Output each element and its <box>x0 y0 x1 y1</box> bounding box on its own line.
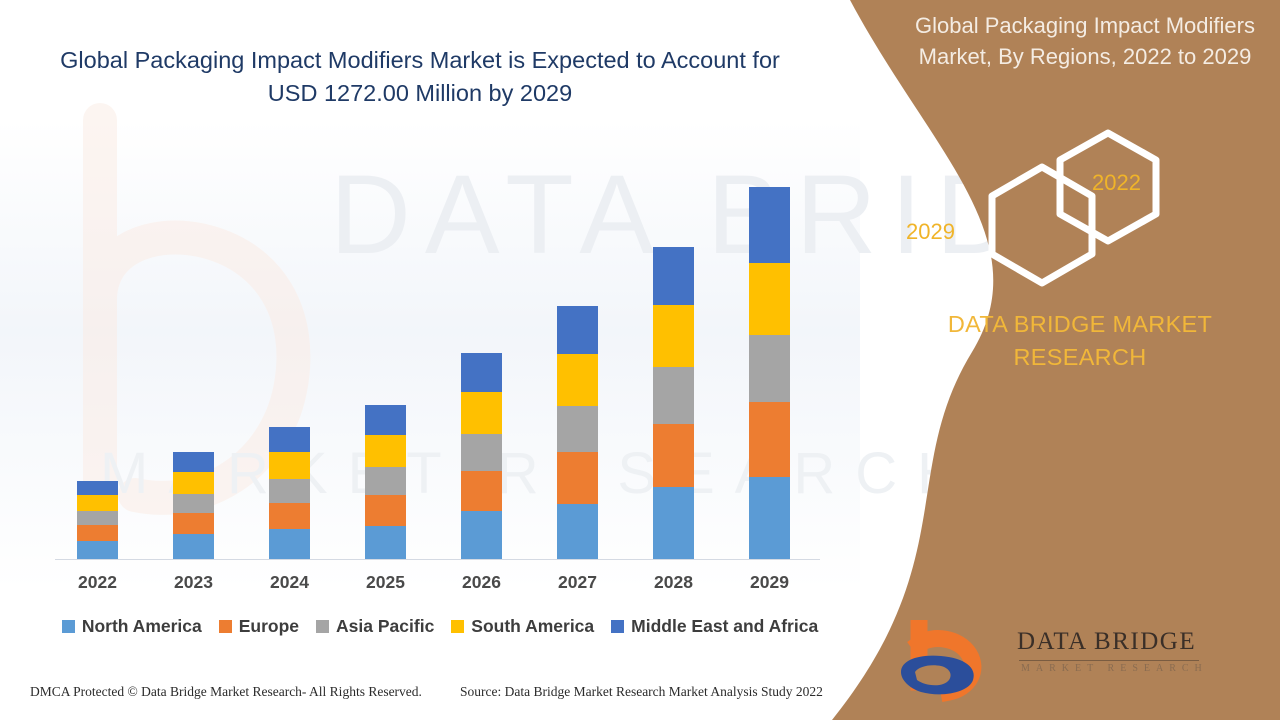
legend-item-middle-east-and-africa[interactable]: Middle East and Africa <box>611 616 818 637</box>
bar-segment-asia-pacific <box>749 335 790 402</box>
bar-segment-asia-pacific <box>77 511 118 525</box>
bar-segment-asia-pacific <box>173 494 214 513</box>
x-axis-label-2027: 2027 <box>533 572 623 593</box>
bar-2026 <box>461 353 502 559</box>
x-axis-labels: 20222023202420252026202720282029 <box>55 572 820 602</box>
x-axis-label-2029: 2029 <box>725 572 815 593</box>
x-axis-label-2025: 2025 <box>341 572 431 593</box>
legend-item-asia-pacific[interactable]: Asia Pacific <box>316 616 434 637</box>
legend-label: Europe <box>239 616 299 637</box>
chart-plot-area <box>55 150 820 560</box>
legend-item-north-america[interactable]: North America <box>62 616 202 637</box>
bar-segment-north-america <box>653 487 694 559</box>
chart-legend: North AmericaEuropeAsia PacificSouth Ame… <box>55 616 825 637</box>
bar-segment-south-america <box>557 354 598 406</box>
brand-panel: Global Packaging Impact Modifiers Market… <box>880 0 1280 720</box>
data-bridge-logo: DATA BRIDGE MARKET RESEARCH <box>885 620 1135 705</box>
bar-segment-south-america <box>749 263 790 335</box>
bar-segment-europe <box>653 424 694 487</box>
legend-label: Middle East and Africa <box>631 616 818 637</box>
bar-segment-middle-east-and-africa <box>269 427 310 452</box>
legend-swatch-icon <box>62 620 75 633</box>
bar-segment-middle-east-and-africa <box>173 452 214 472</box>
bar-segment-north-america <box>557 504 598 559</box>
brand-line-1: DATA BRIDGE MARKET <box>880 308 1280 341</box>
bar-segment-asia-pacific <box>365 467 406 495</box>
bar-segment-north-america <box>173 534 214 559</box>
footer: DMCA Protected © Data Bridge Market Rese… <box>0 684 845 708</box>
x-axis-label-2023: 2023 <box>149 572 239 593</box>
bar-segment-europe <box>461 471 502 511</box>
brand-name: DATA BRIDGE MARKET RESEARCH <box>880 308 1280 375</box>
bar-segment-south-america <box>365 435 406 467</box>
x-axis-label-2028: 2028 <box>629 572 719 593</box>
hex-label-2029: 2029 <box>906 219 955 245</box>
bar-2024 <box>269 427 310 559</box>
legend-item-south-america[interactable]: South America <box>451 616 594 637</box>
legend-swatch-icon <box>611 620 624 633</box>
bar-segment-middle-east-and-africa <box>365 405 406 435</box>
hexagon-outline-icon <box>980 125 1190 290</box>
bar-segment-north-america <box>749 477 790 559</box>
logo-name: DATA BRIDGE <box>1017 628 1196 656</box>
bar-segment-middle-east-and-africa <box>77 481 118 495</box>
page-title: Global Packaging Impact Modifiers Market… <box>60 44 780 111</box>
bar-segment-asia-pacific <box>653 367 694 424</box>
bar-segment-asia-pacific <box>269 479 310 503</box>
legend-label: North America <box>82 616 202 637</box>
hexagon-badges <box>980 125 1190 290</box>
bar-2023 <box>173 452 214 559</box>
x-axis-line <box>55 559 820 560</box>
bar-segment-asia-pacific <box>557 406 598 452</box>
bar-segment-middle-east-and-africa <box>653 247 694 305</box>
bar-segment-north-america <box>77 541 118 559</box>
bar-segment-europe <box>269 503 310 529</box>
brand-line-2: RESEARCH <box>880 341 1280 374</box>
bar-2022 <box>77 481 118 559</box>
legend-label: South America <box>471 616 594 637</box>
db-mark-icon <box>885 620 1015 705</box>
bar-2027 <box>557 306 598 559</box>
logo-tagline: MARKET RESEARCH <box>1021 663 1208 674</box>
bar-segment-middle-east-and-africa <box>461 353 502 392</box>
bar-segment-europe <box>557 452 598 504</box>
bar-segment-north-america <box>269 529 310 559</box>
panel-title: Global Packaging Impact Modifiers Market… <box>890 10 1280 72</box>
bar-segment-south-america <box>173 472 214 494</box>
hex-label-2022: 2022 <box>1092 170 1141 196</box>
bar-segment-europe <box>173 513 214 534</box>
legend-swatch-icon <box>219 620 232 633</box>
logo-divider <box>1019 660 1199 661</box>
legend-label: Asia Pacific <box>336 616 434 637</box>
legend-swatch-icon <box>316 620 329 633</box>
bar-segment-middle-east-and-africa <box>749 187 790 263</box>
bar-segment-north-america <box>365 526 406 559</box>
bar-segment-south-america <box>77 495 118 511</box>
bar-segment-europe <box>365 495 406 526</box>
bar-segment-south-america <box>269 452 310 479</box>
bar-2029 <box>749 187 790 559</box>
bar-segment-south-america <box>653 305 694 367</box>
legend-swatch-icon <box>451 620 464 633</box>
stacked-bar-chart <box>55 150 820 560</box>
x-axis-label-2026: 2026 <box>437 572 527 593</box>
bar-segment-europe <box>77 525 118 541</box>
footer-copyright: DMCA Protected © Data Bridge Market Rese… <box>30 684 422 700</box>
bar-2028 <box>653 247 694 559</box>
footer-source: Source: Data Bridge Market Research Mark… <box>460 684 823 700</box>
legend-item-europe[interactable]: Europe <box>219 616 299 637</box>
bar-2025 <box>365 405 406 559</box>
x-axis-label-2024: 2024 <box>245 572 335 593</box>
x-axis-label-2022: 2022 <box>53 572 143 593</box>
bar-segment-south-america <box>461 392 502 434</box>
bar-segment-north-america <box>461 511 502 559</box>
bar-segment-asia-pacific <box>461 434 502 471</box>
bar-segment-europe <box>749 402 790 477</box>
bar-segment-middle-east-and-africa <box>557 306 598 354</box>
